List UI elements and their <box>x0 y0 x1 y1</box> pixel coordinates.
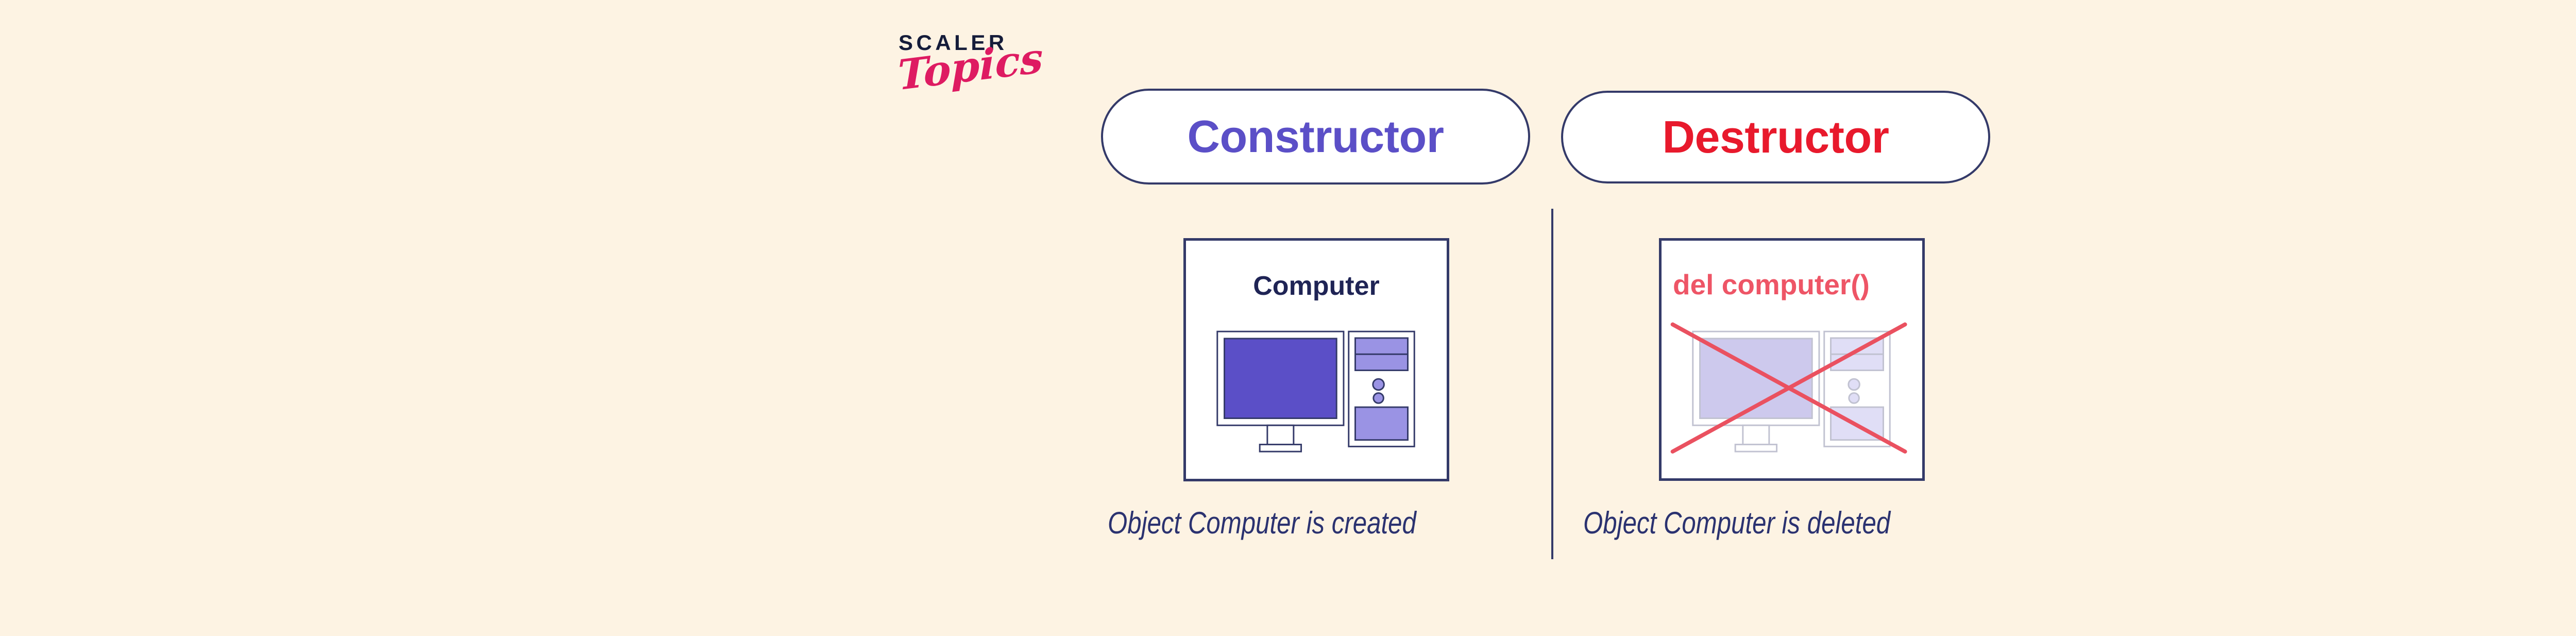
scaler-topics-logo: SCALER Topics <box>897 32 1031 135</box>
tower-power-button-icon <box>1373 379 1384 390</box>
monitor-neck-icon <box>1743 425 1769 444</box>
section-divider <box>1551 209 1553 559</box>
monitor-base-icon <box>1260 444 1301 451</box>
pill-destructor-label: Destructor <box>1663 114 1889 160</box>
caption-object-deleted: Object Computer is deleted <box>1583 508 1890 539</box>
tower-power-button-icon <box>1849 379 1860 390</box>
monitor-screen-icon <box>1700 339 1812 419</box>
monitor-neck-icon <box>1267 425 1294 444</box>
tower-lower-panel-icon <box>1355 407 1408 440</box>
monitor-base-icon <box>1735 444 1776 451</box>
card-constructor: Computer <box>1183 238 1449 481</box>
illustration-canvas: SCALER Topics Constructor Destructor Com… <box>0 0 2576 636</box>
caption-object-created: Object Computer is created <box>1108 508 1416 539</box>
tower-reset-button-icon <box>1849 393 1859 404</box>
tower-lower-panel-icon <box>1831 407 1884 440</box>
computer-illustration-active <box>1186 241 1447 479</box>
pill-constructor-label: Constructor <box>1187 114 1444 159</box>
card-destructor: del computer() <box>1659 238 1925 481</box>
tower-reset-button-icon <box>1374 393 1384 404</box>
pill-destructor[interactable]: Destructor <box>1561 91 1990 183</box>
monitor-screen-icon <box>1225 339 1337 419</box>
pill-constructor[interactable]: Constructor <box>1101 89 1530 185</box>
computer-illustration-deleted <box>1662 241 1922 478</box>
